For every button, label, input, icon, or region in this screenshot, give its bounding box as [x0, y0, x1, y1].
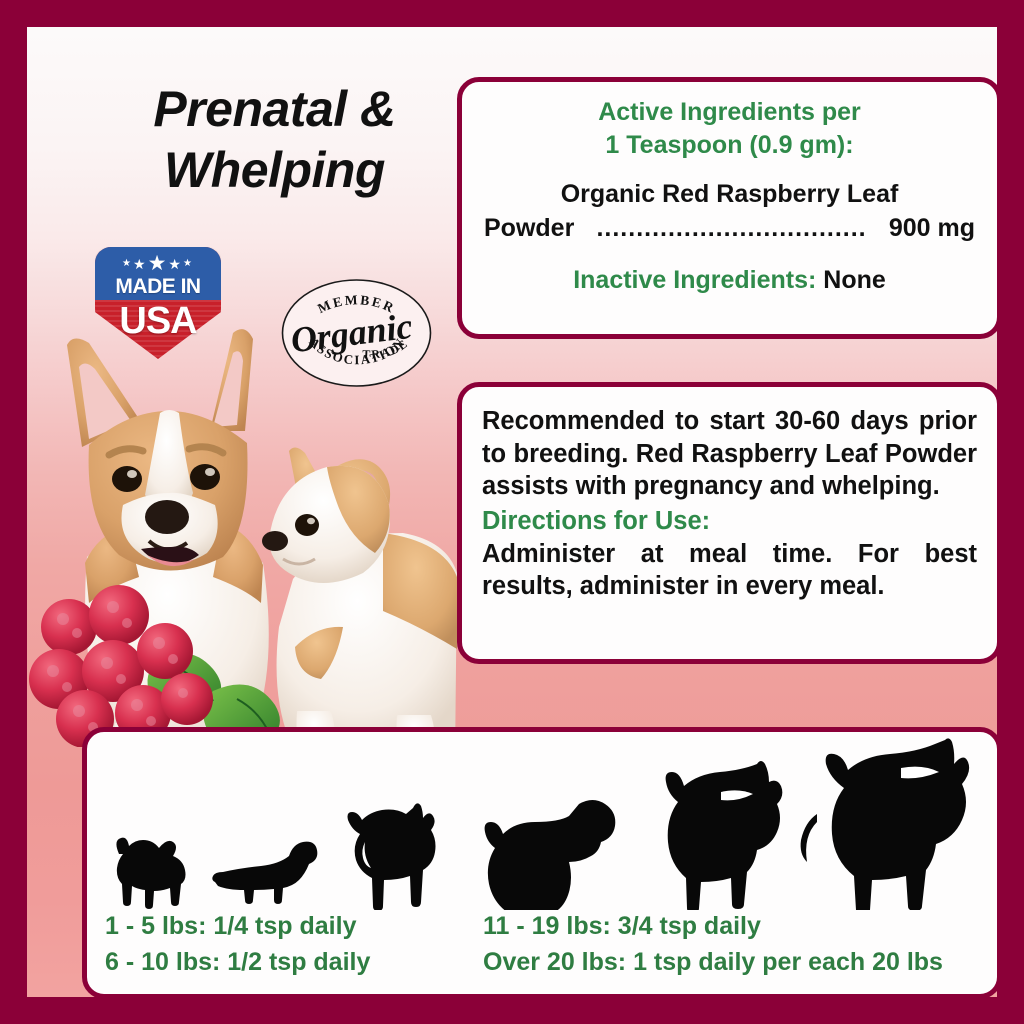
label-card: Prenatal & Whelping ★★★★★ MADE IN USA — [27, 27, 997, 997]
directions-text: Administer at meal time. For best result… — [482, 538, 977, 603]
stars-icon: ★★★★★ — [95, 253, 221, 274]
dog-size-silhouettes — [87, 735, 997, 910]
dosing-row-2: 6 - 10 lbs: 1/2 tsp daily Over 20 lbs: 1… — [105, 944, 991, 980]
dosing-row-1: 1 - 5 lbs: 1/4 tsp daily 11 - 19 lbs: 3/… — [105, 908, 991, 944]
inactive-ingredients-value: None — [823, 266, 886, 294]
ingredient-dot-leader: .................................. — [574, 212, 889, 246]
ingredients-heading-line-2: 1 Teaspoon (0.9 gm): — [484, 129, 975, 162]
dosing-table: 1 - 5 lbs: 1/4 tsp daily 11 - 19 lbs: 3/… — [105, 908, 991, 981]
title-line-2: Whelping — [97, 140, 452, 201]
extra-large-dog-icon — [795, 738, 991, 910]
usage-description: Recommended to start 30-60 days prior to… — [482, 405, 977, 503]
title-line-1: Prenatal & — [97, 79, 452, 140]
active-ingredient-line-1: Organic Red Raspberry Leaf — [484, 178, 975, 212]
active-ingredients-panel: Active Ingredients per 1 Teaspoon (0.9 g… — [457, 77, 997, 339]
product-label: Prenatal & Whelping ★★★★★ MADE IN USA — [0, 0, 1024, 1024]
inactive-ingredients-row: Inactive Ingredients: None — [484, 266, 975, 295]
medium-dog-icon — [469, 790, 621, 910]
puppy-corgi-dog — [262, 447, 457, 747]
page-title: Prenatal & Whelping — [97, 79, 452, 201]
small-dog-icon — [209, 838, 325, 910]
active-ingredient-amount: 900 mg — [889, 212, 975, 246]
dosing-cell-2-1: 6 - 10 lbs: 1/2 tsp daily — [105, 944, 483, 980]
dosing-chart-panel: 1 - 5 lbs: 1/4 tsp daily 11 - 19 lbs: 3/… — [82, 727, 997, 997]
active-ingredient-entry: Organic Red Raspberry Leaf Powder ......… — [484, 178, 975, 246]
ingredients-heading: Active Ingredients per 1 Teaspoon (0.9 g… — [484, 96, 975, 162]
extra-small-dog-icon — [101, 832, 197, 910]
active-ingredient-line-2: Powder .................................… — [484, 212, 975, 246]
small-medium-dog-icon — [335, 802, 457, 910]
inactive-ingredients-label: Inactive Ingredients: — [573, 266, 816, 294]
directions-heading: Directions for Use: — [482, 505, 977, 538]
active-ingredient-name: Powder — [484, 212, 574, 246]
ingredients-heading-line-1: Active Ingredients per — [484, 96, 975, 129]
made-in-usa-line-1: MADE IN — [95, 275, 221, 299]
corgi-photo — [27, 327, 457, 747]
large-dog-icon — [635, 760, 805, 910]
directions-panel: Recommended to start 30-60 days prior to… — [457, 382, 997, 664]
dosing-cell-1-1: 1 - 5 lbs: 1/4 tsp daily — [105, 908, 483, 944]
dosing-cell-1-2: 11 - 19 lbs: 3/4 tsp daily — [483, 908, 991, 944]
dosing-cell-2-2: Over 20 lbs: 1 tsp daily per each 20 lbs — [483, 944, 991, 980]
